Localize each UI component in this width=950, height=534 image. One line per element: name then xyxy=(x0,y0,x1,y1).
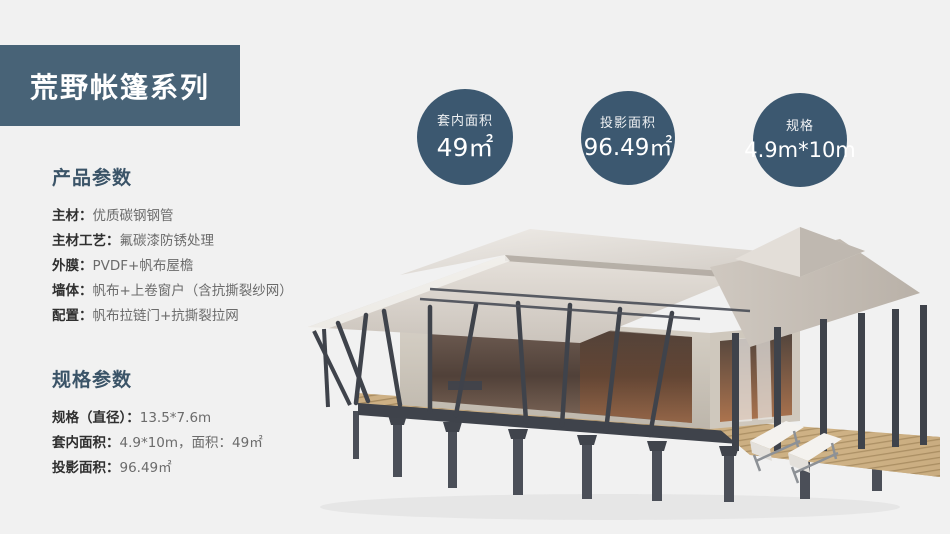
tent-render-image xyxy=(280,215,950,525)
spec-label: 配置： xyxy=(52,308,93,324)
spec-label: 主材： xyxy=(52,208,93,224)
wall-vent xyxy=(448,381,482,390)
stat-value: 96.49㎡ xyxy=(584,137,673,160)
spec-value: 优质碳钢钢管 xyxy=(93,208,174,224)
spec-value: 帆布拉链门+抗撕裂拉网 xyxy=(93,308,239,324)
spec-value: 氟碳漆防锈处理 xyxy=(120,233,215,249)
title-banner: 荒野帐篷系列 xyxy=(0,45,240,126)
spec-label: 规格（直径）： xyxy=(52,410,140,426)
interior-glow xyxy=(580,328,692,423)
ground-shadow xyxy=(320,494,900,520)
stat-label: 投影面积 xyxy=(600,117,656,130)
spec-value: 帆布+上卷窗户（含抗撕裂纱网） xyxy=(93,283,293,299)
page-root: 荒野帐篷系列 产品参数 主材：优质碳钢钢管 主材工艺：氟碳漆防锈处理 外膜：PV… xyxy=(0,0,950,534)
spec-label: 外膜： xyxy=(52,258,93,274)
spec-value: PVDF+帆布屋檐 xyxy=(93,258,194,274)
gable-opening xyxy=(720,334,792,422)
spec-label: 墙体： xyxy=(52,283,93,299)
spec-value: 96.49㎡ xyxy=(120,460,172,476)
product-parameters-heading: 产品参数 xyxy=(52,163,352,190)
stat-value: 49㎡ xyxy=(437,135,494,160)
stat-badge-dimensions: 规格 4.9m*10m xyxy=(753,93,847,187)
spec-value: 13.5*7.6m xyxy=(140,410,211,426)
stat-badge-interior-area: 套内面积 49㎡ xyxy=(417,89,513,185)
stat-value: 4.9m*10m xyxy=(744,140,856,161)
stat-badge-projected-area: 投影面积 96.49㎡ xyxy=(581,91,675,185)
spec-value: 4.9*10m，面积：49㎡ xyxy=(120,435,263,451)
page-title: 荒野帐篷系列 xyxy=(30,66,210,106)
spec-label: 主材工艺： xyxy=(52,233,120,249)
tent-illustration-svg xyxy=(280,215,950,525)
spec-label: 投影面积： xyxy=(52,460,120,476)
stat-label: 套内面积 xyxy=(437,115,493,128)
stat-label: 规格 xyxy=(786,120,814,133)
spec-label: 套内面积： xyxy=(52,435,120,451)
